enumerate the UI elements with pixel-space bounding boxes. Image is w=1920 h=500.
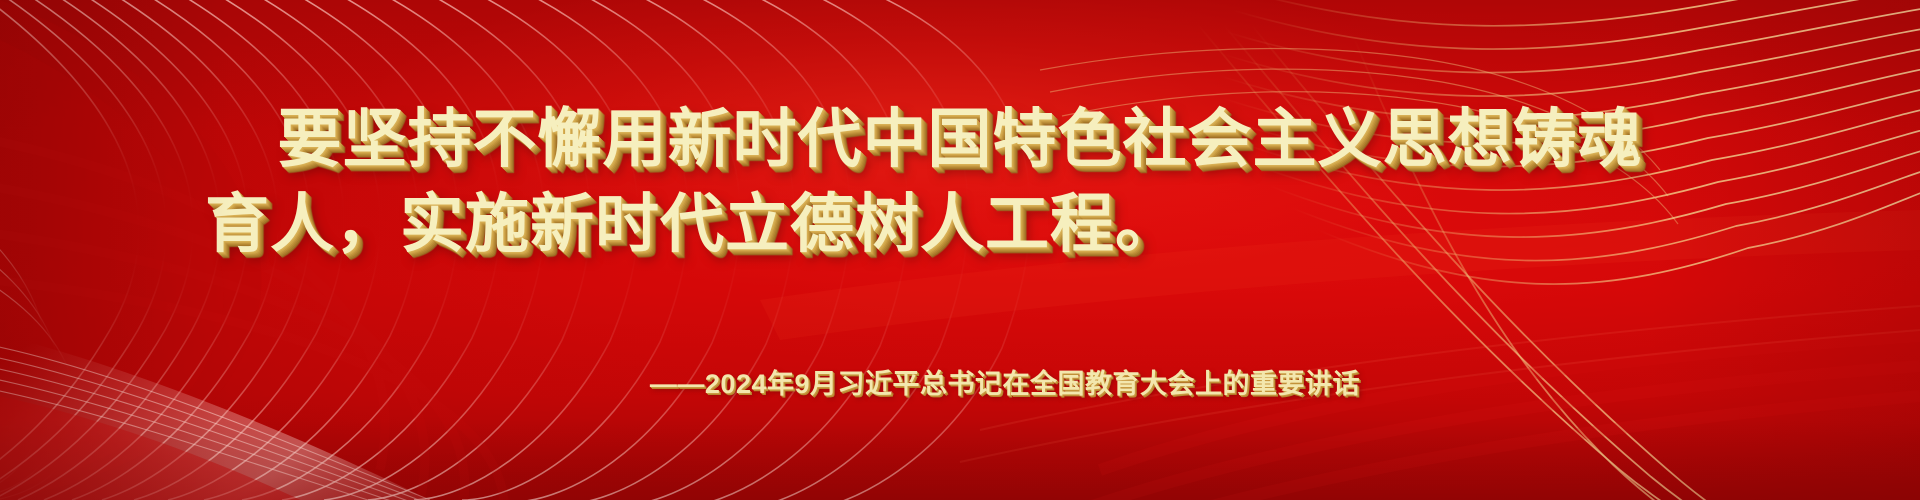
headline-line-2: 育人，实施新时代立德树人工程。 [0, 192, 1920, 256]
headline-line-1: 要坚持不懈用新时代中国特色社会主义思想铸魂 [0, 107, 1920, 171]
propaganda-banner: 要坚持不懈用新时代中国特色社会主义思想铸魂 育人，实施新时代立德树人工程。 ——… [0, 0, 1920, 500]
attribution-source: ——2024年9月习近平总书记在全国教育大会上的重要讲话 [0, 362, 1920, 401]
banner-text-block: 要坚持不懈用新时代中国特色社会主义思想铸魂 育人，实施新时代立德树人工程。 ——… [0, 0, 1920, 500]
